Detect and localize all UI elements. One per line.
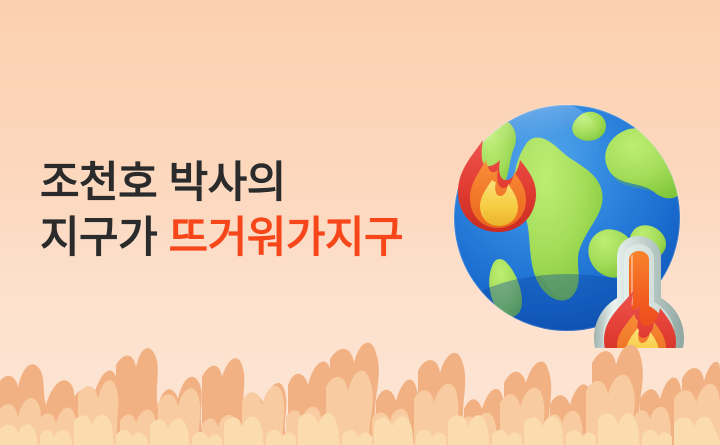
promo-banner: 조천호 박사의 지구가 뜨거워가지구	[0, 0, 720, 445]
headline-line-2-plain: 지구가	[40, 214, 169, 262]
earth-globe-illustration	[430, 78, 705, 348]
headline-line-2-highlight: 뜨거워가지구	[169, 214, 403, 262]
headline-line-1: 조천호 박사의	[40, 162, 460, 205]
headline-line-2: 지구가 뜨거워가지구	[40, 217, 460, 260]
page-title: 조천호 박사의 지구가 뜨거워가지구	[40, 162, 460, 260]
flame-layer-mid	[0, 371, 720, 445]
flame-layer-front	[0, 413, 720, 445]
flame-layer-back	[0, 343, 720, 445]
